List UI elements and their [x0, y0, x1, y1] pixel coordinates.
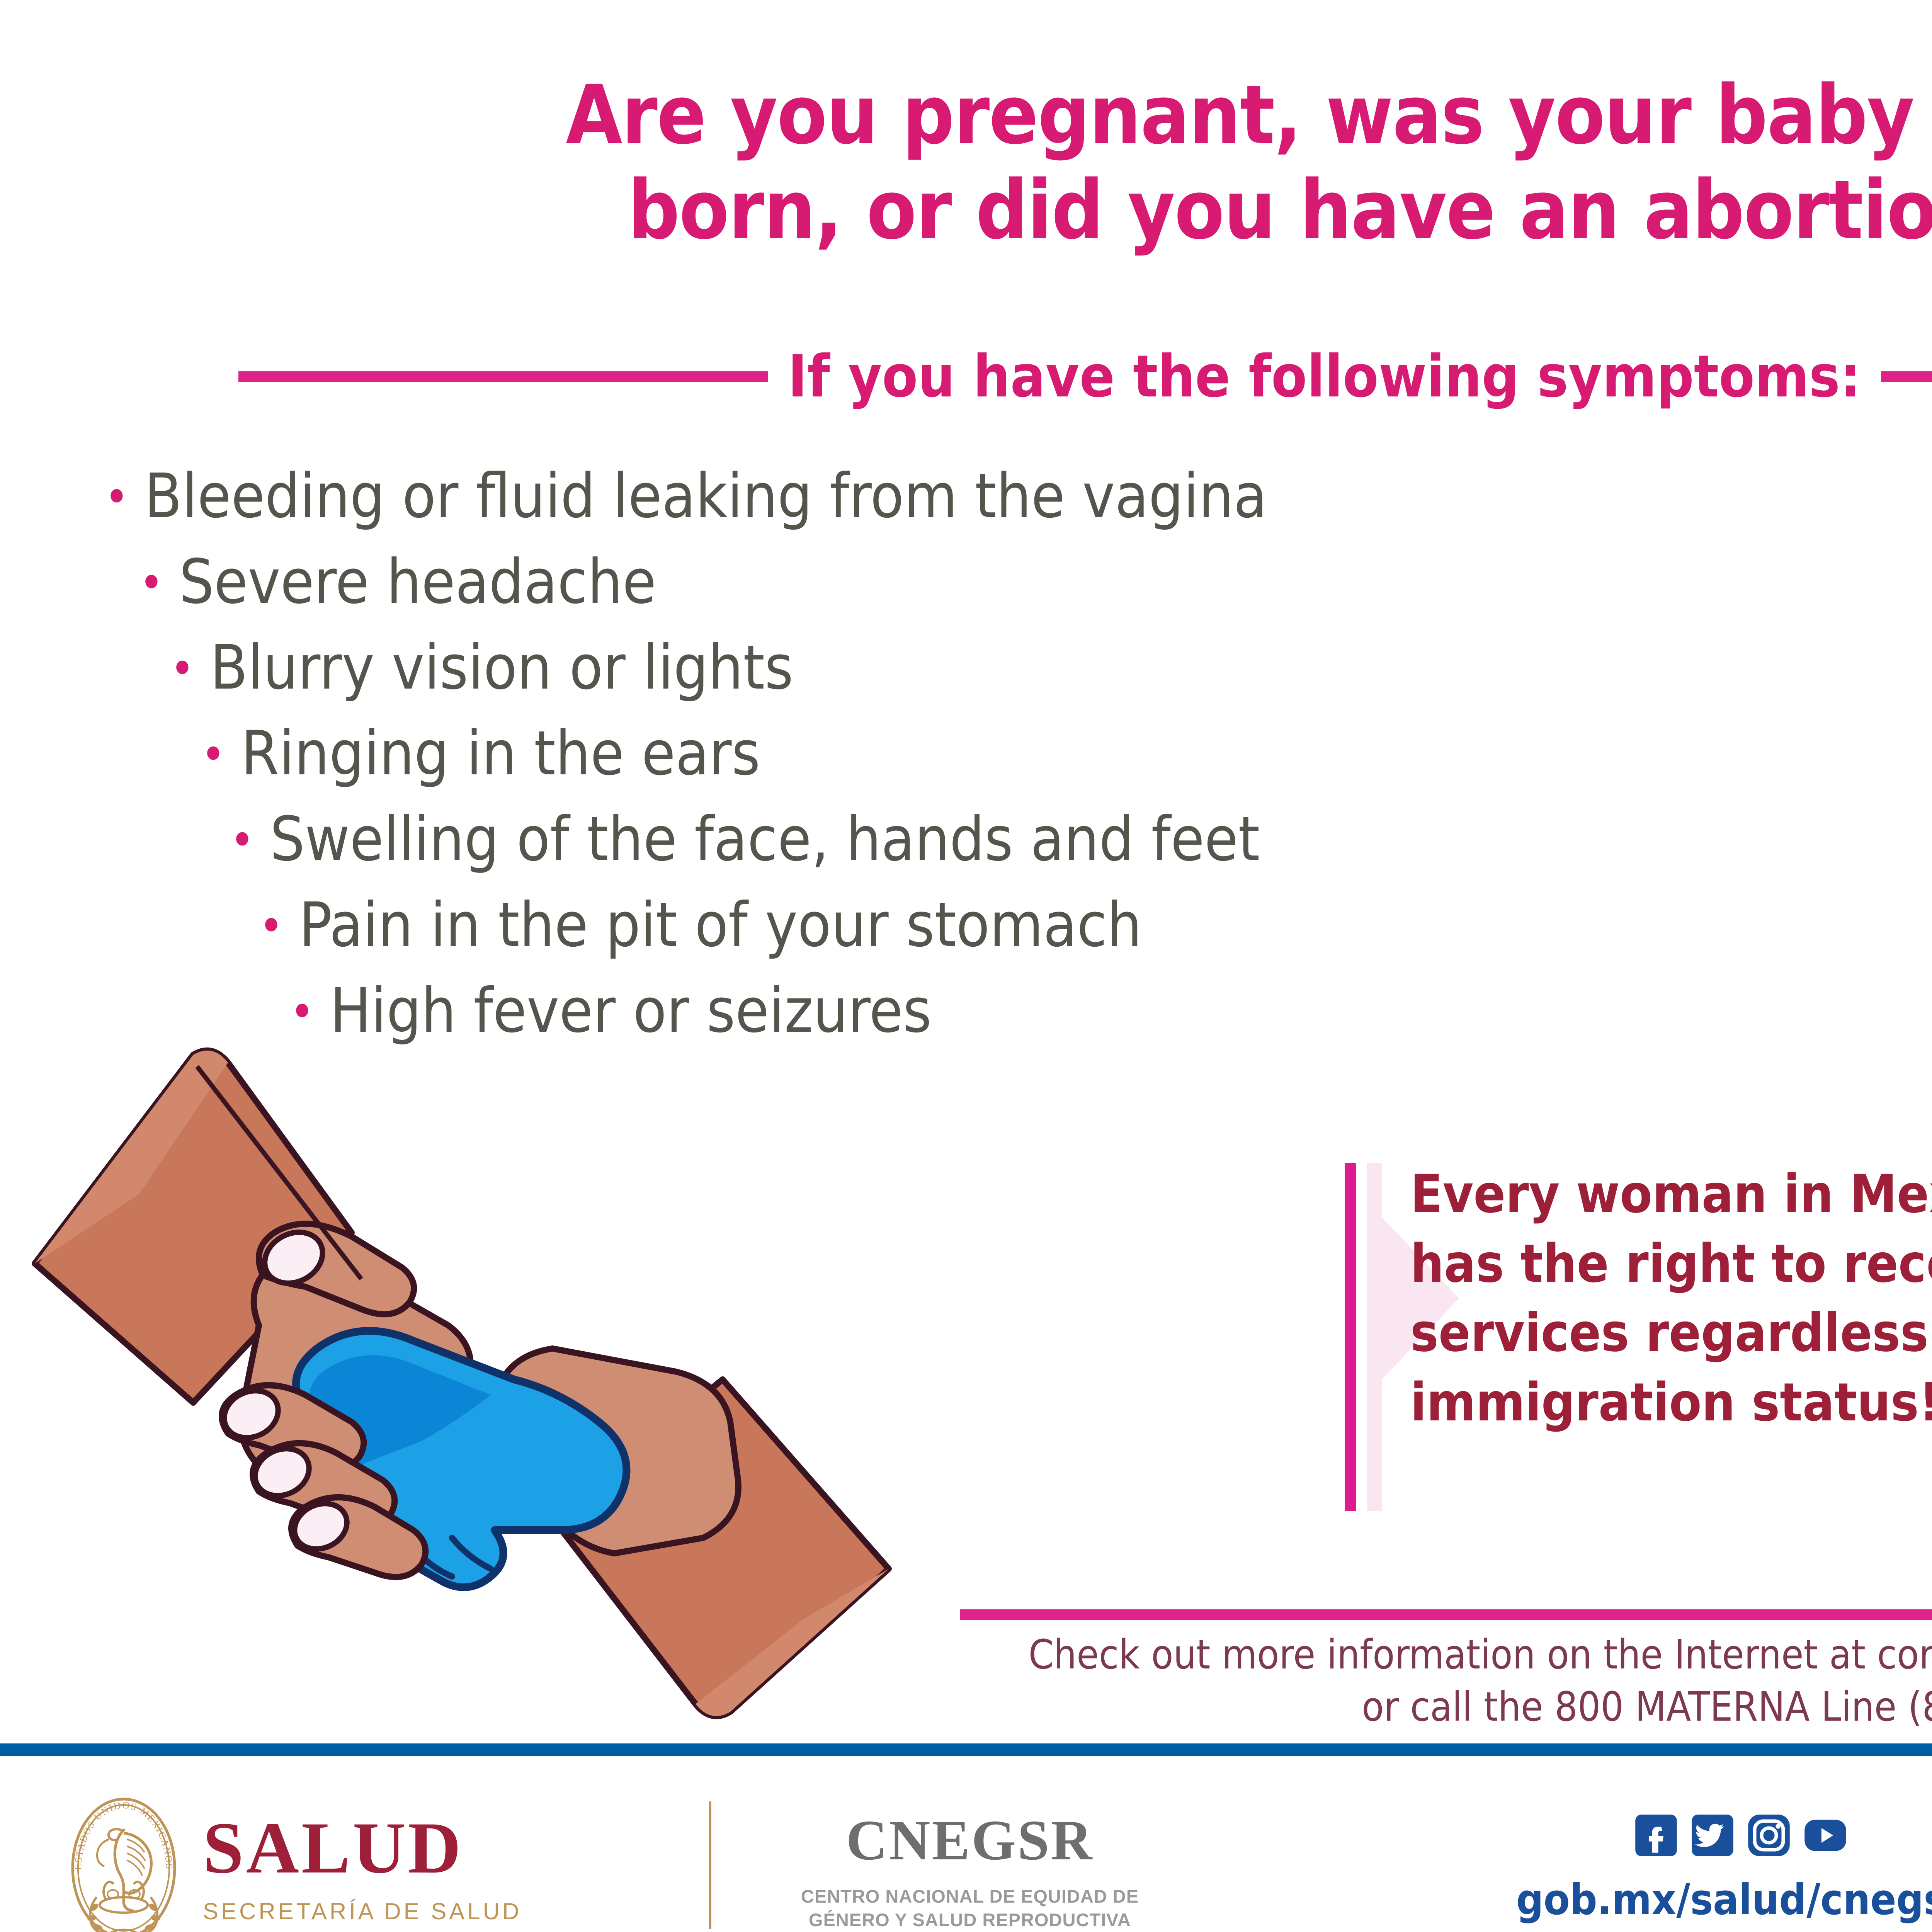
twitter-icon[interactable] [1691, 1814, 1734, 1857]
list-item: • Severe headache [104, 551, 1766, 637]
cnegsr-subtitle: CENTRO NACIONAL DE EQUIDAD DE GÉNERO Y S… [777, 1884, 1163, 1932]
social-url[interactable]: gob.mx/salud/cnegsr [1499, 1875, 1932, 1924]
handshake-illustration [12, 1032, 908, 1723]
rights-line-2: has the right to receive health care [1410, 1230, 1932, 1299]
salud-wordmark: SALUD SECRETARÍA DE SALUD [203, 1811, 522, 1925]
footer-vertical-divider [709, 1801, 711, 1929]
callout-accent-bar [1345, 1163, 1356, 1511]
cnegsr-sub-line-2: GÉNERO Y SALUD REPRODUCTIVA [777, 1908, 1163, 1932]
list-item: • Pain in the pit of your stomach [104, 895, 1766, 980]
symptom-list: • Bleeding or fluid leaking from the vag… [104, 466, 1766, 1066]
symptom-label: Swelling of the face, hands and feet [270, 809, 1260, 870]
list-item: • Bleeding or fluid leaking from the vag… [104, 466, 1766, 551]
facebook-icon[interactable] [1634, 1814, 1678, 1857]
bullet-icon: • [139, 560, 164, 607]
subtitle-row: If you have the following symptoms: [0, 348, 1932, 406]
headline-line-2: born, or did you have an abortion? [0, 163, 1932, 258]
salud-logo-lockup: ESTADOS UNIDOS MEXICANOS SALUD SECRETARÍ… [66, 1794, 522, 1932]
mexican-coat-of-arms-icon: ESTADOS UNIDOS MEXICANOS [66, 1794, 182, 1932]
symptom-label: Severe headache [179, 551, 656, 612]
symptom-label: Bleeding or fluid leaking from the vagin… [145, 466, 1267, 527]
footer-separator-bar [0, 1743, 1932, 1756]
rights-line-3: services regardless of her [1410, 1299, 1932, 1368]
contact-website-line: Check out more information on the Intern… [927, 1629, 1932, 1681]
bullet-icon: • [259, 903, 284, 950]
bullet-icon: • [104, 474, 129, 521]
social-icon-row [1499, 1814, 1932, 1857]
svg-text:ESTADOS UNIDOS MEXICANOS: ESTADOS UNIDOS MEXICANOS [73, 1800, 174, 1870]
list-item: • Blurry vision or lights [104, 637, 1766, 723]
callout-rights: Every woman in Mexican territory has the… [1345, 1163, 1932, 1511]
cnegsr-sub-line-1: CENTRO NACIONAL DE EQUIDAD DE [777, 1884, 1163, 1908]
headline-line-1: Are you pregnant, was your baby just [0, 68, 1932, 163]
contact-phone-line: or call the 800 MATERNA Line (800 628376… [927, 1681, 1932, 1733]
cnegsr-title: CNEGSR [777, 1812, 1163, 1869]
bullet-icon: • [230, 818, 255, 864]
list-item: • Ringing in the ears [104, 723, 1766, 809]
salud-subtitle: SECRETARÍA DE SALUD [203, 1898, 522, 1925]
list-item: • Swelling of the face, hands and feet [104, 809, 1766, 895]
seal-motto-text: ESTADOS UNIDOS MEXICANOS [73, 1800, 174, 1870]
cnegsr-logo: CNEGSR CENTRO NACIONAL DE EQUIDAD DE GÉN… [777, 1812, 1163, 1932]
salud-title: SALUD [203, 1811, 522, 1885]
bullet-icon: • [170, 646, 195, 692]
rights-line-4: immigration status! [1410, 1368, 1932, 1438]
rights-line-1: Every woman in Mexican territory [1410, 1160, 1932, 1230]
callout-pale-band [1367, 1163, 1382, 1511]
symptom-label: Blurry vision or lights [210, 637, 793, 698]
contact-info: Check out more information on the Intern… [927, 1629, 1932, 1733]
symptom-label: Ringing in the ears [241, 723, 760, 784]
youtube-icon[interactable] [1804, 1814, 1847, 1857]
instagram-icon[interactable] [1747, 1814, 1791, 1857]
contact-rule [960, 1609, 1932, 1620]
subtitle-rule-right [1881, 371, 1932, 382]
social-block: gob.mx/salud/cnegsr [1499, 1814, 1932, 1924]
subtitle-text: If you have the following symptoms: [788, 348, 1861, 406]
bullet-icon: • [201, 732, 226, 778]
callout-rights-text: Every woman in Mexican territory has the… [1410, 1160, 1932, 1437]
poster-root: Are you pregnant, was your baby just bor… [0, 0, 1932, 1932]
symptom-label: Pain in the pit of your stomach [299, 895, 1142, 956]
bullet-icon: • [290, 989, 315, 1036]
footer: ESTADOS UNIDOS MEXICANOS SALUD SECRETARÍ… [0, 1756, 1932, 1932]
page-title: Are you pregnant, was your baby just bor… [0, 68, 1932, 257]
subtitle-rule-left [238, 371, 768, 382]
